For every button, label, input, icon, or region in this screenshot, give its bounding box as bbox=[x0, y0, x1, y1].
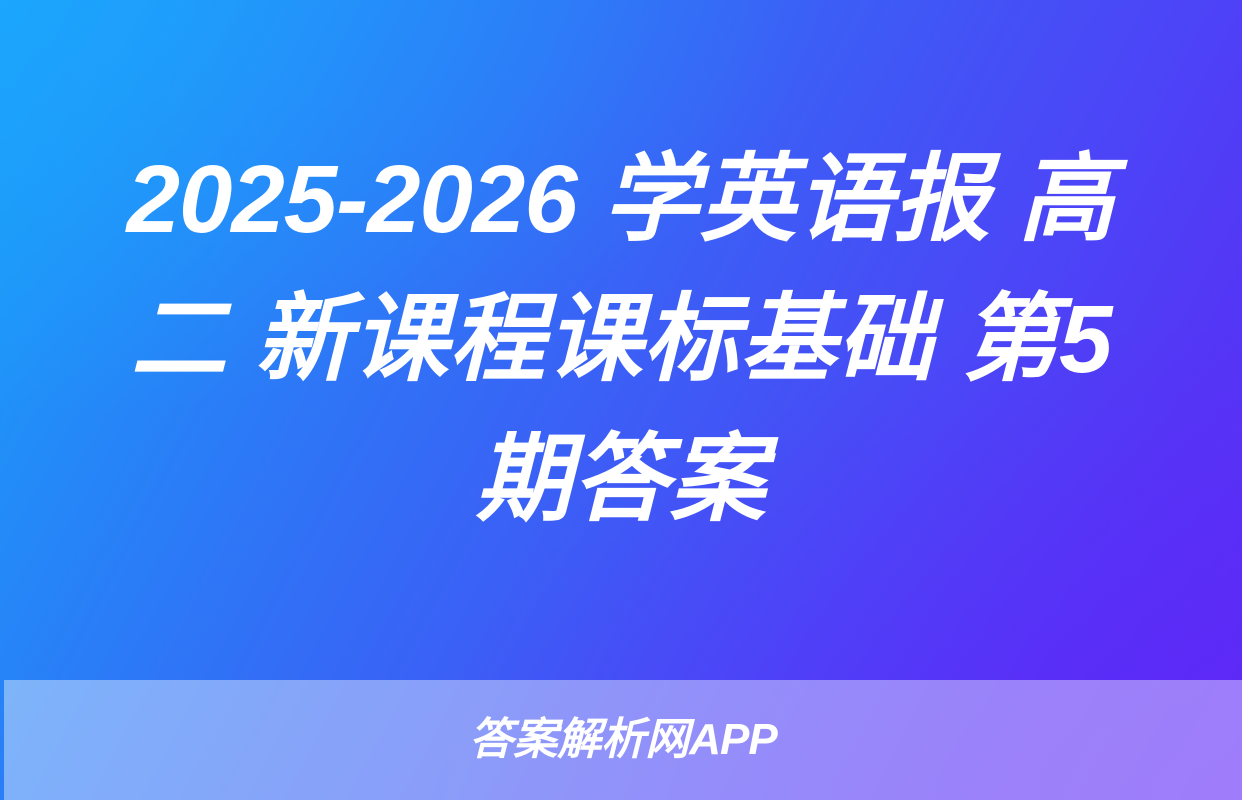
headline-line-2-latin: 5 bbox=[1059, 286, 1111, 393]
headline-line-3-cjk: 期答案 bbox=[476, 426, 767, 533]
brand-watermark-latin: APP bbox=[689, 715, 776, 764]
headline-line-2-cjk: 二 新课程课标基础 第 bbox=[131, 286, 1059, 393]
cover-image-canvas: 2025-2026学英语报 高 二 新课程课标基础 第5 期答案 答案解析网AP… bbox=[0, 0, 1242, 800]
brand-watermark: 答案解析网APP bbox=[469, 715, 776, 765]
headline-line-1-latin: 2025-2026 bbox=[127, 146, 577, 253]
footer-watermark-band: 答案解析网APP bbox=[4, 680, 1242, 800]
headline-line-3: 期答案 bbox=[61, 410, 1181, 550]
page-title: 2025-2026学英语报 高 二 新课程课标基础 第5 期答案 bbox=[61, 130, 1181, 550]
headline-line-1: 2025-2026学英语报 高 bbox=[61, 130, 1181, 270]
headline-line-2: 二 新课程课标基础 第5 bbox=[61, 270, 1181, 410]
brand-watermark-cjk: 答案解析网 bbox=[469, 715, 689, 764]
headline-line-1-cjk: 学英语报 高 bbox=[603, 146, 1116, 253]
headline-area: 2025-2026学英语报 高 二 新课程课标基础 第5 期答案 bbox=[0, 0, 1242, 680]
